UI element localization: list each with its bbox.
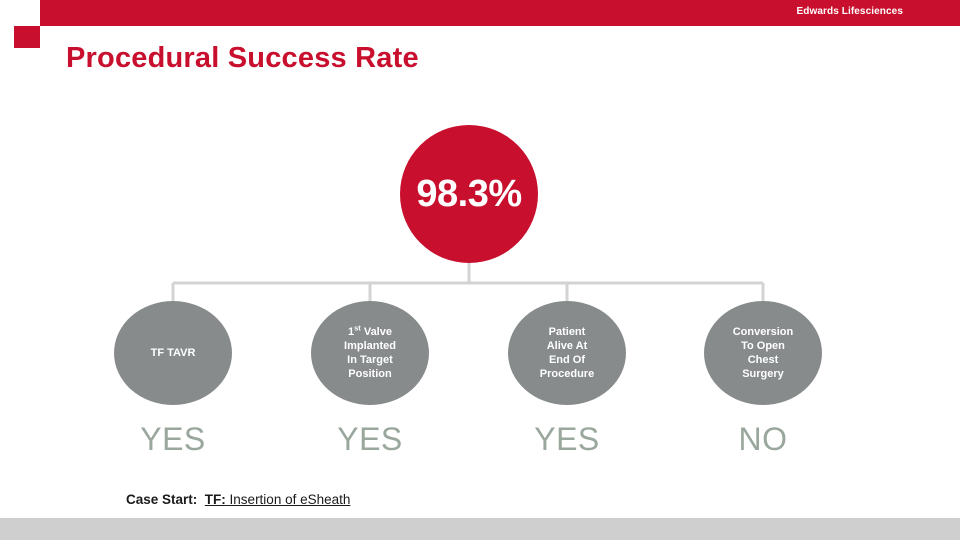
brand-name: Edwards Lifesciences [797,6,904,17]
case-start-detail: TF: Insertion of eSheath [205,492,351,507]
case-start-label: Case Start: [126,492,197,507]
criterion-label: Conversion To Open Chest Surgery [725,325,802,381]
answer-valve-position: YES [290,420,450,458]
case-start-caption: Case Start: TF: Insertion of eSheath [126,492,350,507]
footer-strip [0,518,960,540]
criterion-node-valve-position: 1st Valve Implanted In Target Position [311,301,429,405]
answer-patient-alive: YES [487,420,647,458]
success-rate-value: 98.3% [416,175,521,213]
criterion-ellipse: 1st Valve Implanted In Target Position [311,301,429,405]
answer-conversion-surgery: NO [683,420,843,458]
brand-band: Edwards Lifesciences [40,0,960,26]
root-success-rate-node: 98.3% [400,125,538,263]
criterion-label: 1st Valve Implanted In Target Position [336,325,404,381]
criterion-node-tf-tavr: TF TAVR [114,301,232,405]
answer-tf-tavr: YES [93,420,253,458]
criterion-ellipse: Conversion To Open Chest Surgery [704,301,822,405]
case-start-access-route: TF: [205,492,226,507]
criterion-node-patient-alive: Patient Alive At End Of Procedure [508,301,626,405]
criterion-ellipse: Patient Alive At End Of Procedure [508,301,626,405]
page-title: Procedural Success Rate [66,42,419,75]
caption-spacer [197,492,205,507]
criterion-node-conversion-surgery: Conversion To Open Chest Surgery [704,301,822,405]
case-start-description: Insertion of eSheath [226,492,351,507]
criterion-ellipse: TF TAVR [114,301,232,405]
criterion-label-ordinal-suffix: st [354,323,361,332]
logo-square-mark [14,26,40,48]
criterion-label: Patient Alive At End Of Procedure [532,325,602,381]
criterion-label: TF TAVR [143,346,204,360]
connector-lines [0,0,960,540]
